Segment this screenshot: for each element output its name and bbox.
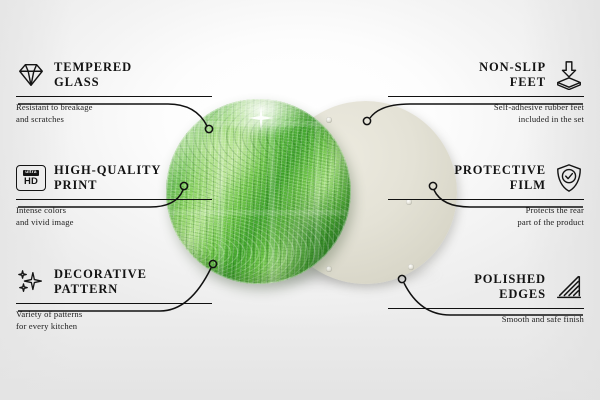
hatched-triangle-icon bbox=[554, 272, 584, 302]
ultra-hd-icon: ultra HD bbox=[16, 165, 46, 191]
feature-description: Smooth and safe finish bbox=[388, 313, 584, 325]
sparkles-icon bbox=[16, 267, 46, 297]
feature-description: Self-adhesive rubber feet included in th… bbox=[388, 101, 584, 125]
feature-description: Variety of patterns for every kitchen bbox=[16, 308, 212, 332]
feature-polished-edges: POLISHED EDGES Smooth and safe finish bbox=[388, 270, 584, 325]
feature-title: NON-SLIP FEET bbox=[479, 60, 546, 91]
feature-decorative-pattern: DECORATIVE PATTERN Variety of patterns f… bbox=[16, 265, 212, 332]
feature-divider bbox=[16, 303, 212, 304]
feature-divider bbox=[16, 96, 212, 97]
ultra-hd-badge-text: ultra bbox=[23, 170, 39, 176]
feature-divider bbox=[388, 96, 584, 97]
diamond-icon bbox=[16, 60, 46, 90]
feature-title: PROTECTIVE FILM bbox=[454, 163, 546, 194]
press-down-pad-icon bbox=[554, 60, 584, 90]
feature-protective-film: PROTECTIVE FILM Protects the rear part o… bbox=[388, 161, 584, 228]
feature-description: Intense colors and vivid image bbox=[16, 204, 212, 228]
feature-description: Protects the rear part of the product bbox=[388, 204, 584, 228]
feature-high-quality-print: ultra HD HIGH-QUALITY PRINT Intense colo… bbox=[16, 161, 212, 228]
ultra-hd-main-text: HD bbox=[24, 177, 38, 187]
feature-description: Resistant to breakage and scratches bbox=[16, 101, 212, 125]
feature-divider bbox=[388, 199, 584, 200]
feature-non-slip-feet: NON-SLIP FEET Self-adhesive rubber feet … bbox=[388, 58, 584, 125]
shield-check-icon bbox=[554, 163, 584, 193]
feature-tempered-glass: TEMPERED GLASS Resistant to breakage and… bbox=[16, 58, 212, 125]
feature-divider bbox=[16, 199, 212, 200]
feature-title: HIGH-QUALITY PRINT bbox=[54, 163, 161, 194]
feature-title: POLISHED EDGES bbox=[474, 272, 546, 303]
feature-divider bbox=[388, 308, 584, 309]
feature-title: DECORATIVE PATTERN bbox=[54, 267, 147, 298]
feature-title: TEMPERED GLASS bbox=[54, 60, 132, 91]
infographic-canvas: TEMPERED GLASS Resistant to breakage and… bbox=[0, 0, 600, 400]
